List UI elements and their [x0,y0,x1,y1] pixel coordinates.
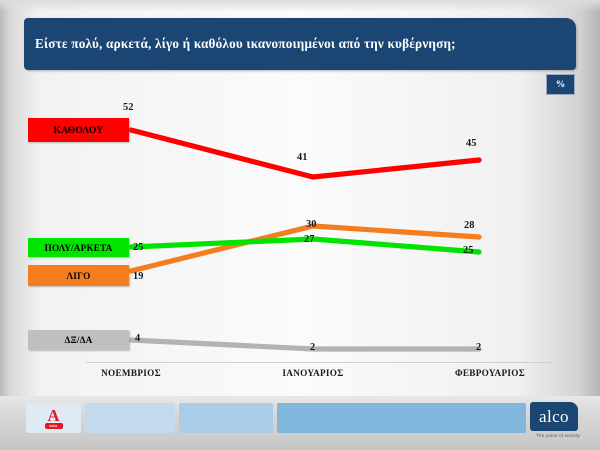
legend-chip-poly-arketa: ΠΟΛΥ/ΑΡΚΕΤΑ [28,238,129,257]
legend-label-dxda: ΔΞ/ΔΑ [65,335,93,345]
footer-bar: A alco [0,396,600,450]
alco-mark-letter: A [47,406,59,425]
value-label-katholou-2: 45 [466,138,476,149]
alco-mark-icon: A alco [43,408,65,429]
legend-label-katholou: ΚΑΘΟΛΟΥ [54,125,104,136]
x-axis-label-0: ΝΟΕΜΒΡΙΟΣ [101,368,161,378]
x-axis-label-2: ΦΕΒΡΟΥΑΡΙΟΣ [455,368,525,378]
value-label-dxda-0: 4 [135,333,140,344]
value-label-ligo-0: 19 [133,271,143,282]
x-axis-line [86,362,552,363]
percent-unit-badge: % [546,74,575,95]
footer-segment-3 [179,403,273,433]
x-axis-label-1: ΙΑΝΟΥΑΡΙΟΣ [282,368,343,378]
value-label-katholou-1: 41 [297,152,307,163]
alco-logo: alco [530,402,578,431]
alco-tagline: The pulse of society [530,433,586,438]
value-label-dxda-2: 2 [476,342,481,353]
footer-segment-2 [85,403,175,433]
value-label-ligo-1: 30 [306,219,316,230]
legend-chip-katholou: ΚΑΘΟΛΟΥ [28,118,129,142]
slide-root: Είστε πολύ, αρκετά, λίγο ή καθόλου ικανο… [0,0,600,450]
series-line-dxda [131,340,479,349]
value-label-katholou-0: 52 [123,102,133,113]
x-axis-labels: ΝΟΕΜΒΡΙΟΣ ΙΑΝΟΥΑΡΙΟΣ ΦΕΒΡΟΥΑΡΙΟΣ [0,368,600,384]
alco-mark-word: alco [45,423,63,429]
footer-segment-logo: A alco [26,403,81,433]
title-bar: Είστε πολύ, αρκετά, λίγο ή καθόλου ικανο… [24,18,576,70]
value-label-dxda-1: 2 [310,342,315,353]
footer-segment-4 [277,403,526,433]
legend-chip-ligo: ΛΙΓΟ [28,265,129,286]
value-label-poly-arketa-0: 25 [133,242,143,253]
alco-logo-text: alco [539,408,569,425]
value-label-poly-arketa-1: 27 [304,234,314,245]
legend-chip-dxda: ΔΞ/ΔΑ [28,330,129,350]
page-title: Είστε πολύ, αρκετά, λίγο ή καθόλου ικανο… [24,36,456,52]
value-label-ligo-2: 28 [464,220,474,231]
legend-label-poly-arketa: ΠΟΛΥ/ΑΡΚΕΤΑ [45,243,113,253]
value-label-poly-arketa-2: 25 [463,245,473,256]
legend-label-ligo: ΛΙΓΟ [67,271,91,281]
